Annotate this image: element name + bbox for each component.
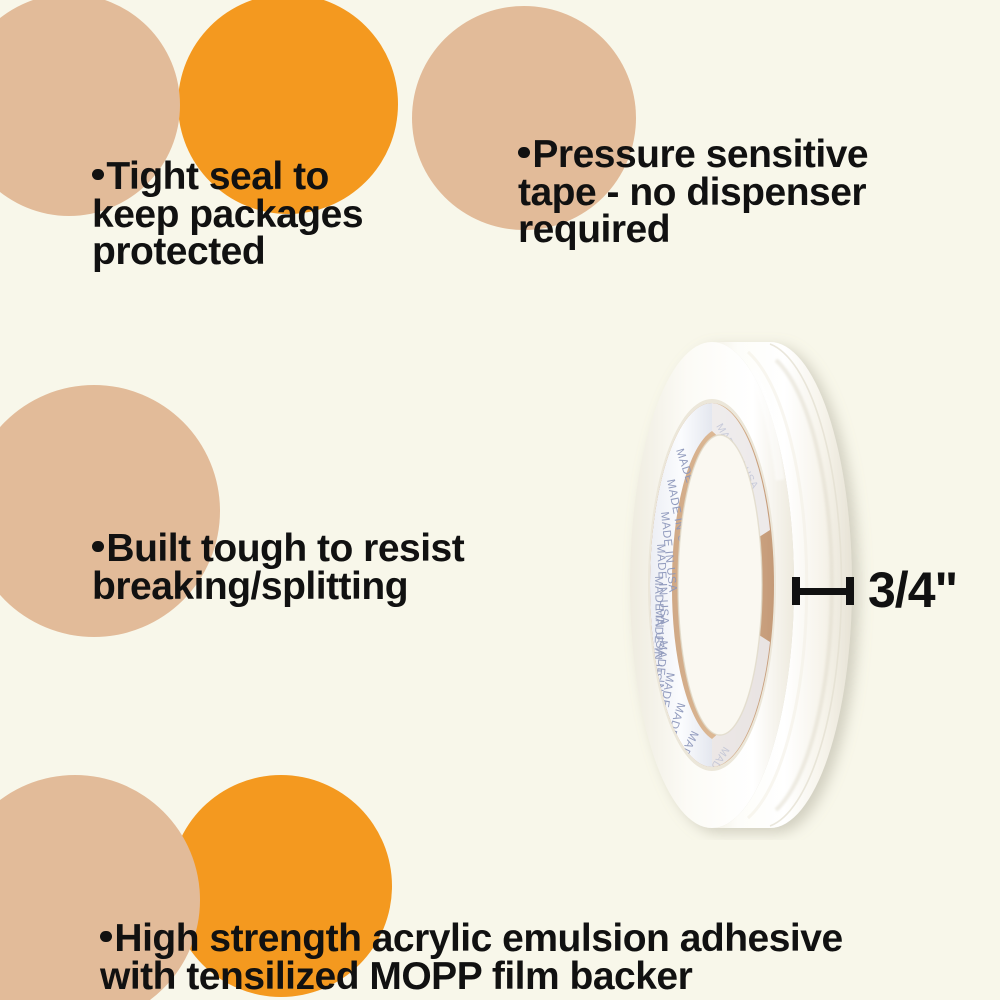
dimension-marker-icon <box>792 577 854 603</box>
feature-text-tight-seal: Tight seal to keep packages protected <box>92 155 363 274</box>
feature-built-tough: Built tough to resist breaking/splitting <box>92 492 562 605</box>
feature-pressure-sensitive: Pressure sensitive tape - no dispenser r… <box>518 98 950 249</box>
bullet-dot-icon <box>518 147 530 159</box>
feature-text-acrylic-adhesive: High strength acrylic emulsion adhesive … <box>100 917 843 998</box>
bullet-dot-icon <box>100 931 112 943</box>
feature-tight-seal: Tight seal to keep packages protected <box>92 120 452 271</box>
dimension-label: 3/4" <box>868 565 957 615</box>
feature-text-pressure-sensitive: Pressure sensitive tape - no dispenser r… <box>518 133 868 252</box>
feature-text-built-tough: Built tough to resist breaking/splitting <box>92 527 464 608</box>
feature-acrylic-adhesive: High strength acrylic emulsion adhesive … <box>100 882 980 995</box>
infographic-canvas: MADE IN USA MADE IN USA MADE IN USA MADE… <box>0 0 1000 1000</box>
dimension-callout: 3/4" <box>792 560 957 620</box>
bullet-dot-icon <box>92 541 104 553</box>
bullet-dot-icon <box>92 169 104 181</box>
